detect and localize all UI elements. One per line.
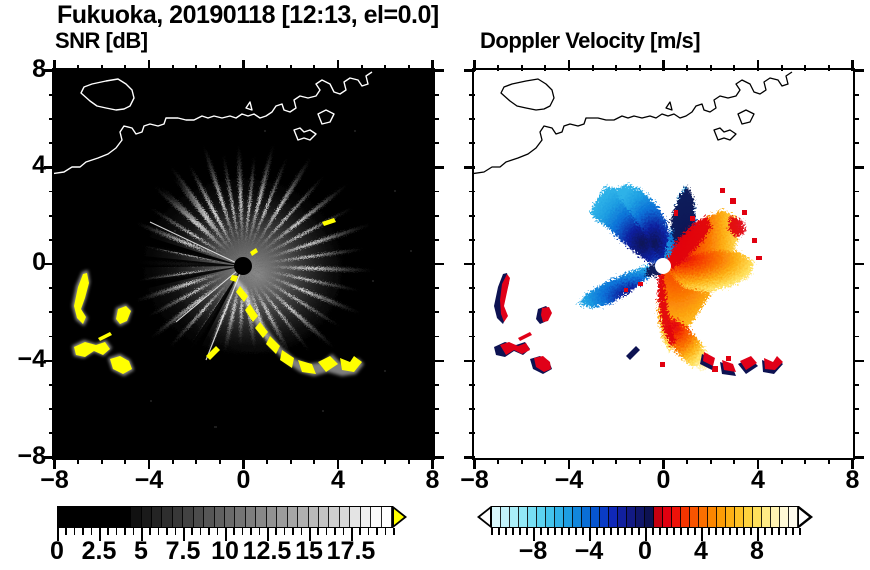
snr-y-label: −4: [4, 345, 46, 374]
colorbar-cell: [267, 507, 277, 527]
doppler-colorbar-tick: [547, 528, 549, 535]
snr-colorbar-tick: [393, 528, 395, 535]
colorbar-cell: [100, 507, 110, 527]
snr-x-tick: [384, 65, 386, 71]
snr-colorbar-tick: [284, 528, 286, 535]
snr-colorbar-tick: [149, 528, 151, 535]
snr-y-tick: [49, 408, 55, 410]
snr-x-tick: [219, 458, 221, 464]
doppler-colorbar-tick: [750, 528, 752, 535]
doppler-colorbar-tick: [638, 528, 640, 535]
colorbar-cell: [573, 507, 582, 527]
doppler-colorbar-tick: [631, 528, 633, 535]
snr-x-tick: [361, 65, 363, 71]
colorbar-cell: [744, 507, 753, 527]
colorbar-cell: [609, 507, 618, 527]
snr-colorbar-tick: [359, 528, 361, 535]
doppler-colorbar-tick: [491, 528, 493, 535]
colorbar-cell: [501, 507, 510, 527]
doppler-x-tick: [521, 458, 523, 464]
snr-y-tick: [49, 191, 55, 193]
doppler-x-tick: [710, 458, 712, 464]
doppler-y-tick: [853, 432, 859, 434]
snr-x-tick: [195, 65, 197, 71]
colorbar-cell: [789, 507, 798, 527]
colorbar-cell: [726, 507, 735, 527]
doppler-y-tick: [853, 287, 859, 289]
colorbar-cell: [131, 507, 141, 527]
doppler-y-tick: [469, 311, 475, 313]
doppler-colorbar-tick: [582, 528, 584, 535]
doppler-y-tick: [853, 384, 859, 386]
snr-y-tick: [433, 336, 439, 338]
snr-x-tick: [313, 65, 315, 71]
colorbar-cell: [735, 507, 744, 527]
doppler-y-tick: [853, 166, 864, 169]
colorbar-cell: [591, 507, 600, 527]
snr-colorbar-tick: [124, 528, 126, 535]
colorbar-cell: [600, 507, 609, 527]
snr-x-tick: [384, 458, 386, 464]
colorbar-cell: [246, 507, 256, 527]
snr-y-tick: [49, 118, 55, 120]
snr-x-tick: [124, 65, 126, 71]
snr-y-tick: [433, 166, 444, 169]
snr-x-tick: [101, 65, 103, 71]
doppler-y-tick: [469, 191, 475, 193]
colorbar-cell: [162, 507, 172, 527]
doppler-x-label: 8: [823, 466, 870, 495]
snr-colorbar-gradient: [57, 506, 393, 528]
snr-y-tick: [49, 311, 55, 313]
snr-colorbar-tick: [175, 528, 177, 535]
colorbar-cell: [519, 507, 528, 527]
doppler-colorbar-tick: [603, 528, 605, 535]
colorbar-cell: [510, 507, 519, 527]
colorbar-cell: [89, 507, 99, 527]
colorbar-cell: [762, 507, 771, 527]
doppler-y-tick: [853, 263, 864, 266]
snr-radar-panel[interactable]: [52, 68, 435, 460]
doppler-x-tick: [757, 60, 760, 71]
snr-colorbar-tick: [191, 528, 193, 535]
snr-colorbar-tick: [233, 528, 235, 535]
doppler-x-tick: [568, 60, 571, 71]
colorbar-cell: [277, 507, 287, 527]
colorbar-cell: [350, 507, 360, 527]
snr-x-tick: [313, 458, 315, 464]
doppler-y-tick: [469, 336, 475, 338]
snr-colorbar-tick: [385, 528, 387, 535]
doppler-panel-title: Doppler Velocity [m/s]: [480, 28, 700, 54]
doppler-y-tick: [469, 94, 475, 96]
colorbar-cell: [382, 507, 392, 527]
doppler-colorbar-tick: [575, 528, 577, 535]
colorbar-cell: [564, 507, 573, 527]
colorbar-cell: [636, 507, 645, 527]
snr-y-tick: [433, 263, 444, 266]
doppler-y-tick: [853, 94, 859, 96]
doppler-colorbar-tick: [617, 528, 619, 535]
colorbar-cell: [555, 507, 564, 527]
colorbar-cell: [654, 507, 663, 527]
snr-colorbar-tick: [301, 528, 303, 535]
doppler-x-tick: [521, 65, 523, 71]
doppler-colorbar-tick: [568, 528, 570, 535]
doppler-x-tick: [733, 65, 735, 71]
doppler-y-tick: [469, 215, 475, 217]
snr-y-tick: [49, 432, 55, 434]
doppler-x-tick: [639, 458, 641, 464]
colorbar-cell: [618, 507, 627, 527]
snr-y-tick: [433, 408, 439, 410]
snr-colorbar-tick: [292, 528, 294, 535]
colorbar-cell: [235, 507, 245, 527]
snr-y-tick: [433, 118, 439, 120]
doppler-colorbar-tick: [792, 528, 794, 535]
colorbar-cell: [537, 507, 546, 527]
colorbar-cell: [110, 507, 120, 527]
snr-colorbar-tick: [166, 528, 168, 535]
doppler-y-tick: [469, 239, 475, 241]
doppler-colorbar-tick: [519, 528, 521, 535]
snr-y-tick: [49, 215, 55, 217]
doppler-colorbar-tick: [715, 528, 717, 535]
doppler-colorbar-tick: [764, 528, 766, 535]
snr-y-tick: [433, 311, 439, 313]
colorbar-cell: [663, 507, 672, 527]
doppler-y-tick: [464, 263, 475, 266]
snr-plot-area: [54, 70, 433, 458]
doppler-colorbar-tick: [526, 528, 528, 535]
snr-y-tick: [433, 384, 439, 386]
colorbar-cell: [546, 507, 555, 527]
snr-x-tick: [361, 458, 363, 464]
doppler-y-tick: [469, 287, 475, 289]
colorbar-cell: [68, 507, 78, 527]
doppler-y-tick: [853, 215, 859, 217]
doppler-colorbar-tick: [561, 528, 563, 535]
snr-colorbar-tick: [208, 528, 210, 535]
doppler-colorbar-tick: [694, 528, 696, 535]
colorbar-cell: [681, 507, 690, 527]
snr-colorbar-tick: [158, 528, 160, 535]
doppler-x-tick: [544, 65, 546, 71]
snr-colorbar-tick: [107, 528, 109, 535]
snr-x-tick: [77, 458, 79, 464]
snr-y-tick: [433, 215, 439, 217]
doppler-x-tick: [686, 65, 688, 71]
doppler-colorbar-tick: [652, 528, 654, 535]
snr-x-tick: [337, 60, 340, 71]
doppler-y-tick: [853, 191, 859, 193]
snr-x-tick: [101, 458, 103, 464]
doppler-x-tick: [828, 458, 830, 464]
snr-colorbar-tick: [74, 528, 76, 535]
doppler-x-tick: [615, 458, 617, 464]
doppler-colorbar-tick: [673, 528, 675, 535]
snr-x-label: −4: [119, 466, 179, 495]
doppler-x-tick: [497, 458, 499, 464]
snr-colorbar-tick: [343, 528, 345, 535]
radar-center-doppler: [655, 258, 671, 274]
doppler-colorbar-tick: [743, 528, 745, 535]
doppler-colorbar-tick: [708, 528, 710, 535]
colorbar-cell: [256, 507, 266, 527]
doppler-colorbar[interactable]: [477, 506, 819, 532]
colorbar-cell: [215, 507, 225, 527]
snr-x-tick: [290, 65, 292, 71]
snr-x-tick: [148, 60, 151, 71]
snr-colorbar-label: 17.5: [311, 537, 391, 566]
colorbar-cell: [288, 507, 298, 527]
snr-y-tick: [433, 142, 439, 144]
doppler-x-tick: [639, 65, 641, 71]
snr-y-tick: [49, 94, 55, 96]
colorbar-cell: [753, 507, 762, 527]
doppler-colorbar-label: 8: [717, 537, 797, 566]
snr-colorbar-tick: [326, 528, 328, 535]
snr-colorbar-tick: [217, 528, 219, 535]
colorbar-cell: [492, 507, 501, 527]
doppler-y-tick: [853, 360, 864, 363]
colorbar-cell: [173, 507, 183, 527]
doppler-y-tick: [853, 118, 859, 120]
snr-colorbar-tick: [368, 528, 370, 535]
doppler-x-tick: [781, 458, 783, 464]
page-title: Fukuoka, 20190118 [12:13, el=0.0]: [57, 1, 439, 30]
colorbar-cell: [79, 507, 89, 527]
snr-colorbar-tick: [200, 528, 202, 535]
colorbar-cell: [672, 507, 681, 527]
doppler-colorbar-tick: [554, 528, 556, 535]
doppler-colorbar-tick: [498, 528, 500, 535]
snr-colorbar[interactable]: [57, 506, 399, 532]
doppler-y-tick: [853, 239, 859, 241]
colorbar-cell: [309, 507, 319, 527]
colorbar-cell: [183, 507, 193, 527]
colorbar-cell: [371, 507, 381, 527]
doppler-x-label: −8: [445, 466, 505, 495]
doppler-colorbar-tick: [736, 528, 738, 535]
snr-x-tick: [242, 60, 245, 71]
doppler-colorbar-tick: [540, 528, 542, 535]
colorbar-cell: [225, 507, 235, 527]
doppler-x-tick: [592, 65, 594, 71]
doppler-colorbar-tick: [722, 528, 724, 535]
doppler-colorbar-tick: [729, 528, 731, 535]
colorbar-cell: [142, 507, 152, 527]
doppler-x-tick: [710, 65, 712, 71]
snr-y-label: 4: [4, 151, 46, 180]
doppler-colorbar-tick: [771, 528, 773, 535]
doppler-y-tick: [853, 456, 864, 459]
doppler-plot-area: [474, 70, 853, 458]
doppler-x-tick: [804, 65, 806, 71]
doppler-y-tick: [469, 432, 475, 434]
snr-y-label: 0: [4, 248, 46, 277]
doppler-x-tick: [686, 458, 688, 464]
snr-colorbar-tick: [259, 528, 261, 535]
colorbar-cell: [582, 507, 591, 527]
snr-y-tick: [49, 142, 55, 144]
snr-colorbar-tick: [91, 528, 93, 535]
doppler-y-tick: [853, 142, 859, 144]
snr-y-tick: [49, 239, 55, 241]
doppler-colorbar-tick: [778, 528, 780, 535]
snr-colorbar-tick: [317, 528, 319, 535]
doppler-colorbar-tick: [659, 528, 661, 535]
doppler-colorbar-tick: [505, 528, 507, 535]
doppler-colorbar-tick: [799, 528, 801, 535]
doppler-radar-panel[interactable]: [472, 68, 855, 460]
doppler-x-label: 0: [634, 466, 694, 495]
doppler-colorbar-gradient: [491, 506, 799, 528]
snr-colorbar-tick: [133, 528, 135, 535]
doppler-x-tick: [828, 65, 830, 71]
snr-y-tick: [433, 239, 439, 241]
colorbar-cell: [298, 507, 308, 527]
snr-x-tick: [408, 65, 410, 71]
doppler-x-tick: [544, 458, 546, 464]
doppler-y-tick: [853, 408, 859, 410]
doppler-x-tick: [804, 458, 806, 464]
snr-colorbar-tick: [334, 528, 336, 535]
colorbar-cell: [121, 507, 131, 527]
radar-center-snr: [234, 257, 252, 275]
snr-x-tick: [124, 458, 126, 464]
snr-colorbar-tick: [242, 528, 244, 535]
doppler-colorbar-tick: [610, 528, 612, 535]
colorbar-cell: [194, 507, 204, 527]
doppler-y-tick: [469, 118, 475, 120]
colorbar-cell: [699, 507, 708, 527]
doppler-y-tick: [464, 166, 475, 169]
snr-colorbar-tick: [65, 528, 67, 535]
doppler-colorbar-tick: [687, 528, 689, 535]
snr-x-tick: [408, 458, 410, 464]
snr-colorbar-tick: [116, 528, 118, 535]
doppler-y-tick: [853, 336, 859, 338]
doppler-y-tick: [464, 69, 475, 72]
snr-x-tick: [195, 458, 197, 464]
colorbar-cell: [361, 507, 371, 527]
doppler-y-tick: [464, 360, 475, 363]
doppler-colorbar-arrow-min-fill: [480, 509, 490, 525]
doppler-y-tick: [853, 311, 859, 313]
doppler-colorbar-arrow-max-fill: [799, 509, 809, 525]
snr-colorbar-tick: [275, 528, 277, 535]
doppler-colorbar-tick: [785, 528, 787, 535]
doppler-colorbar-tick: [512, 528, 514, 535]
doppler-x-tick: [615, 65, 617, 71]
doppler-x-tick: [662, 60, 665, 71]
colorbar-cell: [645, 507, 654, 527]
doppler-y-tick: [469, 142, 475, 144]
snr-y-tick: [433, 456, 444, 459]
snr-y-tick: [433, 94, 439, 96]
colorbar-cell: [152, 507, 162, 527]
doppler-x-tick: [733, 458, 735, 464]
snr-x-tick: [219, 65, 221, 71]
snr-y-tick: [49, 384, 55, 386]
snr-y-tick: [433, 432, 439, 434]
snr-y-tick: [49, 336, 55, 338]
snr-y-tick: [433, 69, 444, 72]
doppler-colorbar-tick: [624, 528, 626, 535]
snr-x-tick: [290, 458, 292, 464]
doppler-y-tick: [469, 384, 475, 386]
snr-x-label: 4: [308, 466, 368, 495]
snr-y-tick: [49, 287, 55, 289]
colorbar-cell: [340, 507, 350, 527]
doppler-x-tick: [592, 458, 594, 464]
doppler-x-tick: [497, 65, 499, 71]
snr-x-tick: [266, 65, 268, 71]
snr-y-tick: [433, 191, 439, 193]
doppler-colorbar-tick: [666, 528, 668, 535]
snr-colorbar-tick: [250, 528, 252, 535]
snr-x-tick: [172, 65, 174, 71]
colorbar-cell: [717, 507, 726, 527]
doppler-x-tick: [781, 65, 783, 71]
snr-x-tick: [172, 458, 174, 464]
doppler-x-label: 4: [728, 466, 788, 495]
snr-x-label: 0: [214, 466, 274, 495]
colorbar-cell: [627, 507, 636, 527]
colorbar-cell: [528, 507, 537, 527]
colorbar-cell: [329, 507, 339, 527]
snr-x-tick: [77, 65, 79, 71]
snr-panel-title: SNR [dB]: [55, 28, 148, 54]
colorbar-cell: [708, 507, 717, 527]
snr-colorbar-tick: [82, 528, 84, 535]
snr-y-label: −8: [4, 442, 46, 471]
snr-y-tick: [433, 360, 444, 363]
doppler-x-label: −4: [539, 466, 599, 495]
snr-y-tick: [433, 287, 439, 289]
colorbar-cell: [319, 507, 329, 527]
doppler-colorbar-tick: [680, 528, 682, 535]
snr-y-label: 8: [4, 55, 46, 84]
doppler-y-tick: [469, 408, 475, 410]
colorbar-cell: [771, 507, 780, 527]
snr-colorbar-tick: [376, 528, 378, 535]
snr-colorbar-arrow-fill: [394, 509, 404, 525]
colorbar-cell: [204, 507, 214, 527]
doppler-colorbar-tick: [596, 528, 598, 535]
colorbar-cell: [690, 507, 699, 527]
doppler-y-tick: [853, 69, 864, 72]
snr-x-tick: [266, 458, 268, 464]
colorbar-cell: [58, 507, 68, 527]
doppler-y-tick: [464, 456, 475, 459]
colorbar-cell: [780, 507, 789, 527]
